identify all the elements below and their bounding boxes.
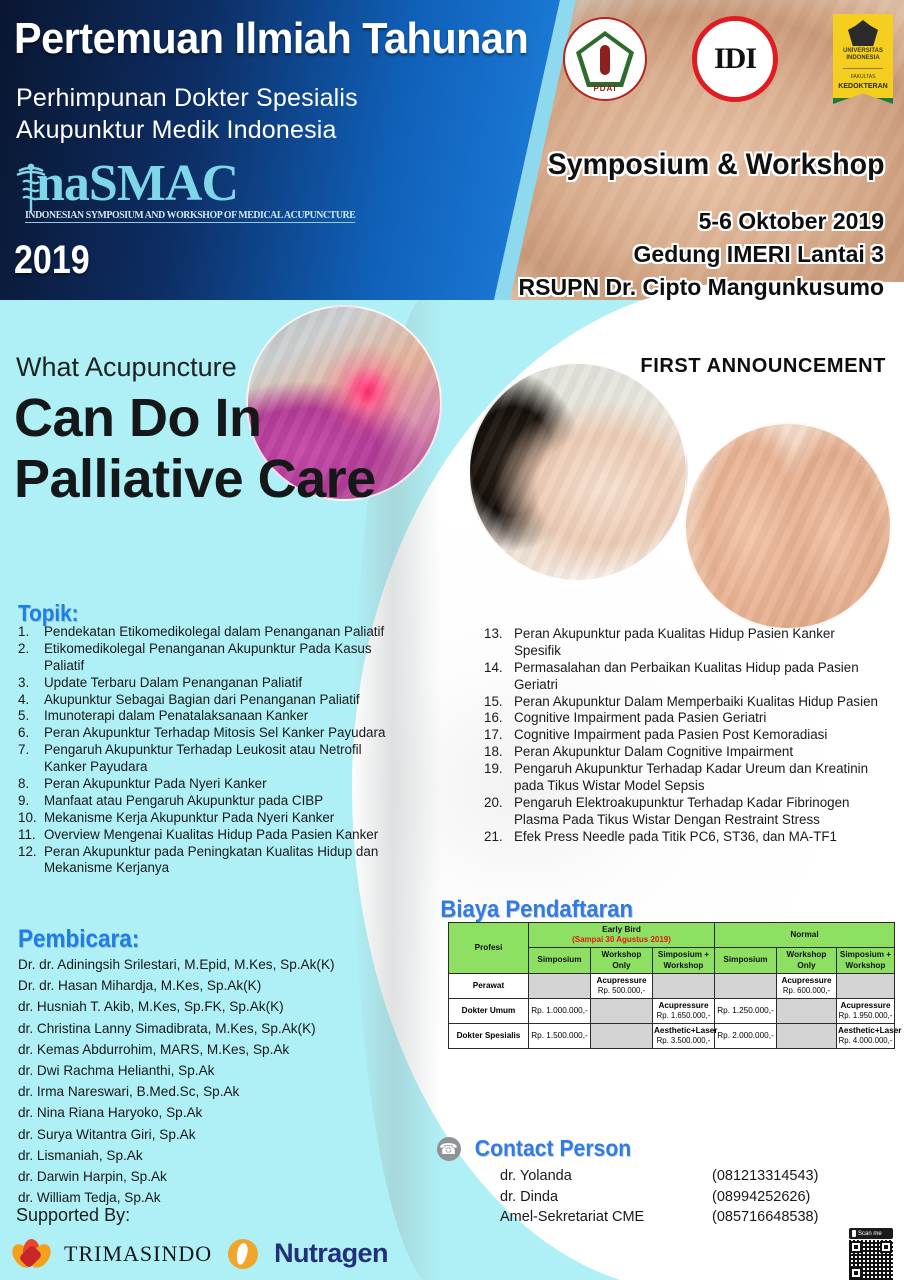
fee-cell-package: AcupressureRp. 1.950.000,- xyxy=(837,998,895,1023)
topic-number: 16. xyxy=(484,710,510,727)
topic-item: 9.Manfaat atau Pengaruh Akupunktur pada … xyxy=(18,793,388,810)
hero-title-line-2: Palliative Care xyxy=(14,449,376,510)
topic-text: Efek Press Needle pada Titik PC6, ST36, … xyxy=(514,829,837,844)
speaker-item: dr. Irma Nareswari, B.Med.Sc, Sp.Ak xyxy=(18,1081,418,1102)
organization-line-2: Akupunktur Medik Indonesia xyxy=(16,114,358,146)
speakers-heading: Pembicara: xyxy=(18,925,139,954)
pdai-logo-label: PDAI xyxy=(565,84,645,93)
fee-table-body: Perawat AcupressureRp. 500.000,- Acupres… xyxy=(449,973,895,1048)
topic-number: 1. xyxy=(18,624,40,641)
topic-item: 11.Overview Mengenai Kualitas Hidup Pada… xyxy=(18,827,388,844)
topic-number: 6. xyxy=(18,725,40,742)
fee-package-label: Acupressure xyxy=(778,976,835,986)
speaker-item: dr. Kemas Abdurrohim, MARS, M.Kes, Sp.Ak xyxy=(18,1039,418,1060)
topic-item: 5.Imunoterapi dalam Penatalaksanaan Kank… xyxy=(18,708,388,725)
topic-text: Overview Mengenai Kualitas Hidup Pada Pa… xyxy=(44,827,378,842)
qr-code-icon[interactable] xyxy=(849,1240,893,1280)
topic-text: Peran Akupunktur Dalam Cognitive Impairm… xyxy=(514,744,793,759)
speaker-item: dr. Darwin Harpin, Sp.Ak xyxy=(18,1166,418,1187)
topic-item: 7.Pengaruh Akupunktur Terhadap Leukosit … xyxy=(18,742,388,776)
fee-cell-price: Rp. 2.000.000,- xyxy=(715,1023,777,1048)
event-date: 5-6 Oktober 2019 xyxy=(699,208,884,235)
event-venue-line-1: Gedung IMERI Lantai 3 xyxy=(634,241,884,268)
pdai-serpent-icon xyxy=(600,45,610,75)
topic-item: 13.Peran Akupunktur pada Kualitas Hidup … xyxy=(484,626,884,660)
speaker-item: dr. Husniah T. Akib, M.Kes, Sp.FK, Sp.Ak… xyxy=(18,996,418,1017)
fee-col-profesi: Profesi xyxy=(449,923,529,974)
photo-acupressure-hand xyxy=(684,422,892,630)
qr-scan-label-chip: Scan me xyxy=(849,1228,893,1239)
pdai-pentagon-shape xyxy=(576,31,634,87)
topic-number: 18. xyxy=(484,744,510,761)
fee-package-amount: Rp. 4.000.000,- xyxy=(838,1036,893,1046)
topic-text: Update Terbaru Dalam Penanganan Paliatif xyxy=(44,675,302,690)
contact-list: dr. Yolanda(081213314543)dr. Dinda(08994… xyxy=(500,1166,818,1228)
fee-group-early-bird-label: Early Bird xyxy=(602,925,641,934)
topic-item: 19.Pengaruh Akupunktur Terhadap Kadar Ur… xyxy=(484,761,884,795)
contact-name: dr. Dinda xyxy=(500,1187,712,1208)
fee-cell-price: Rp. 1.000.000,- xyxy=(529,998,591,1023)
topic-item: 1.Pendekatan Etikomedikolegal dalam Pena… xyxy=(18,624,388,641)
phone-icon xyxy=(437,1137,461,1161)
speaker-item: dr. Nina Riana Haryoko, Sp.Ak xyxy=(18,1102,418,1123)
trimasindo-logo-label: TRIMASINDO xyxy=(64,1241,212,1267)
fee-cell-empty xyxy=(529,973,591,998)
fee-package-amount: Rp. 600.000,- xyxy=(778,986,835,996)
contact-row: dr. Yolanda(081213314543) xyxy=(500,1166,818,1187)
fee-cell-empty xyxy=(591,1023,653,1048)
fee-group-early-bird-note: (Sampai 30 Agustus 2019) xyxy=(530,935,713,945)
fee-cell-empty xyxy=(591,998,653,1023)
contact-name: dr. Yolanda xyxy=(500,1166,712,1187)
topic-item: 2.Etikomedikolegal Penanganan Akupunktur… xyxy=(18,641,388,675)
hero-title-line-1: Can Do In xyxy=(14,388,376,449)
fee-group-early-bird: Early Bird (Sampai 30 Agustus 2019) xyxy=(529,923,715,948)
fee-package-amount: Rp. 3.500.000,- xyxy=(654,1036,713,1046)
idi-logo-icon: IDI xyxy=(692,16,778,102)
fee-group-normal: Normal xyxy=(715,923,895,948)
fee-sub-early-simposium: Simposium xyxy=(529,948,591,974)
topic-number: 20. xyxy=(484,795,510,812)
speakers-list: Dr. dr. Adiningsih Srilestari, M.Epid, M… xyxy=(18,954,418,1208)
contact-heading-wrap: Contact Person xyxy=(0,1135,904,1166)
first-announcement-badge: FIRST ANNOUNCEMENT xyxy=(640,355,886,378)
fee-package-label: Acupressure xyxy=(654,1001,713,1011)
fee-cell-package: Aesthetic+LaserRp. 4.000.000,- xyxy=(837,1023,895,1048)
fee-package-amount: Rp. 500.000,- xyxy=(592,986,651,996)
topic-number: 8. xyxy=(18,776,40,793)
topic-item: 15.Peran Akupunktur Dalam Memperbaiki Ku… xyxy=(484,694,884,711)
event-year: 2019 xyxy=(14,238,90,283)
topic-text: Peran Akupunktur pada Peningkatan Kualit… xyxy=(44,844,378,876)
fee-package-amount: Rp. 1.650.000,- xyxy=(654,1011,713,1021)
contact-phone[interactable]: (081213314543) xyxy=(712,1166,818,1187)
fee-sub-normal-simposium: Simposium xyxy=(715,948,777,974)
photo-facial-acupuncture xyxy=(468,362,688,582)
topic-number: 2. xyxy=(18,641,40,658)
phone-glyph-icon xyxy=(852,1230,856,1237)
contact-name: Amel-Sekretariat CME xyxy=(500,1207,712,1228)
fee-sub-early-combo: Simposium + Workshop xyxy=(653,948,715,974)
fee-cell-package: AcupressureRp. 1.650.000,- xyxy=(653,998,715,1023)
topic-text: Manfaat atau Pengaruh Akupunktur pada CI… xyxy=(44,793,323,808)
topic-number: 13. xyxy=(484,626,510,643)
fee-row-profesi: Perawat xyxy=(449,973,529,998)
contact-heading-inner: Contact Person xyxy=(437,1135,638,1162)
trimasindo-lotus-icon xyxy=(14,1239,48,1269)
topic-number: 15. xyxy=(484,694,510,711)
sponsor-logos: TRIMASINDO Nutragen xyxy=(14,1238,388,1269)
fee-cell-empty xyxy=(777,998,837,1023)
fee-sub-normal-workshop: Workshop Only xyxy=(777,948,837,974)
fee-sub-normal-combo: Simposium + Workshop xyxy=(837,948,895,974)
contact-heading: Contact Person xyxy=(474,1135,630,1162)
topic-number: 19. xyxy=(484,761,510,778)
topic-text: Pendekatan Etikomedikolegal dalam Penang… xyxy=(44,624,384,639)
fee-cell-package: AcupressureRp. 600.000,- xyxy=(777,973,837,998)
fee-package-label: Acupressure xyxy=(592,976,651,986)
fee-cell-price: Rp. 1.250.000,- xyxy=(715,998,777,1023)
topic-item: 4.Akupunktur Sebagai Bagian dari Penanga… xyxy=(18,692,388,709)
organization-line-1: Perhimpunan Dokter Spesialis xyxy=(16,82,358,114)
topic-text: Imunoterapi dalam Penatalaksanaan Kanker xyxy=(44,708,308,723)
topics-list-left: 1.Pendekatan Etikomedikolegal dalam Pena… xyxy=(18,624,388,877)
fee-cell-price: Rp. 1.500.000,- xyxy=(529,1023,591,1048)
contact-phone[interactable]: (085716648538) xyxy=(712,1207,818,1228)
fee-cell-package: AcupressureRp. 500.000,- xyxy=(591,973,653,998)
hero-title: Can Do In Palliative Care xyxy=(14,388,376,510)
topic-item: 20.Pengaruh Elektroakupunktur Terhadap K… xyxy=(484,795,884,829)
fees-heading-wrap: Biaya Pendaftaran xyxy=(0,896,904,924)
contact-phone[interactable]: (08994252626) xyxy=(712,1187,810,1208)
topic-number: 12. xyxy=(18,844,40,861)
topic-number: 17. xyxy=(484,727,510,744)
topic-text: Peran Akupunktur Terhadap Mitosis Sel Ka… xyxy=(44,725,385,740)
qr-code-block[interactable]: Scan me xyxy=(849,1228,896,1280)
topic-number: 10. xyxy=(18,810,40,827)
nutragen-logo-label: Nutragen xyxy=(274,1238,388,1269)
poster-root: Pertemuan Ilmiah Tahunan Perhimpunan Dok… xyxy=(0,0,904,1280)
topic-item: 21.Efek Press Needle pada Titik PC6, ST3… xyxy=(484,829,884,846)
contact-row: dr. Dinda(08994252626) xyxy=(500,1187,818,1208)
topic-text: Peran Akupunktur pada Kualitas Hidup Pas… xyxy=(514,626,835,658)
topic-text: Mekanisme Kerja Akupunktur Pada Nyeri Ka… xyxy=(44,810,334,825)
organization-name: Perhimpunan Dokter Spesialis Akupunktur … xyxy=(16,82,358,146)
event-venue-line-2: RSUPN Dr. Cipto Mangunkusumo xyxy=(519,274,884,301)
fee-table-row: Perawat AcupressureRp. 500.000,- Acupres… xyxy=(449,973,895,998)
fee-table-row: Dokter UmumRp. 1.000.000,- AcupressureRp… xyxy=(449,998,895,1023)
supported-by-label: Supported By: xyxy=(16,1205,130,1226)
topic-text: Cognitive Impairment pada Pasien Post Ke… xyxy=(514,727,827,742)
contact-row: Amel-Sekretariat CME(085716648538) xyxy=(500,1207,818,1228)
speaker-item: Dr. dr. Hasan Mihardja, M.Kes, Sp.Ak(K) xyxy=(18,975,418,996)
topics-list-right: 13.Peran Akupunktur pada Kualitas Hidup … xyxy=(484,626,884,846)
fee-cell-empty xyxy=(777,1023,837,1048)
fee-package-label: Aesthetic+Laser xyxy=(838,1026,893,1036)
event-type: Symposium & Workshop xyxy=(547,148,884,182)
topic-text: Pengaruh Akupunktur Terhadap Leukosit at… xyxy=(44,742,362,774)
topic-number: 11. xyxy=(18,827,40,844)
fee-package-amount: Rp. 1.950.000,- xyxy=(838,1011,893,1021)
topic-text: Etikomedikolegal Penanganan Akupunktur P… xyxy=(44,641,372,673)
ui-logo-divider xyxy=(843,68,883,69)
topic-text: Peran Akupunktur Pada Nyeri Kanker xyxy=(44,776,267,791)
topic-number: 21. xyxy=(484,829,510,846)
ui-logo-line-1: UNIVERSITAS INDONESIA xyxy=(833,48,893,61)
topic-number: 5. xyxy=(18,708,40,725)
topic-item: 10.Mekanisme Kerja Akupunktur Pada Nyeri… xyxy=(18,810,388,827)
nasmac-tagline: INDONESIAN SYMPOSIUM AND WORKSHOP OF MED… xyxy=(25,210,355,223)
fee-row-profesi: Dokter Umum xyxy=(449,998,529,1023)
fee-row-profesi: Dokter Spesialis xyxy=(449,1023,529,1048)
topic-text: Peran Akupunktur Dalam Memperbaiki Kuali… xyxy=(514,694,878,709)
fee-package-label: Acupressure xyxy=(838,1001,893,1011)
ui-logo-line-3: KEDOKTERAN xyxy=(833,83,893,90)
topic-number: 3. xyxy=(18,675,40,692)
nutragen-wheat-icon xyxy=(228,1239,258,1269)
fee-sub-early-workshop: Workshop Only xyxy=(591,948,653,974)
fee-package-label: Aesthetic+Laser xyxy=(654,1026,713,1036)
topic-text: Akupunktur Sebagai Bagian dari Penangana… xyxy=(44,692,360,707)
topic-text: Permasalahan dan Perbaikan Kualitas Hidu… xyxy=(514,660,859,692)
topic-item: 16.Cognitive Impairment pada Pasien Geri… xyxy=(484,710,884,727)
topics-heading: Topik: xyxy=(18,600,79,627)
page-title: Pertemuan Ilmiah Tahunan xyxy=(14,14,528,64)
makara-icon xyxy=(848,20,878,46)
topic-text: Pengaruh Elektroakupunktur Terhadap Kada… xyxy=(514,795,849,827)
topic-number: 14. xyxy=(484,660,510,677)
speaker-item: Dr. dr. Adiningsih Srilestari, M.Epid, M… xyxy=(18,954,418,975)
ui-logo-line-2: FAKULTAS xyxy=(833,74,893,80)
topic-item: 18.Peran Akupunktur Dalam Cognitive Impa… xyxy=(484,744,884,761)
topic-item: 6.Peran Akupunktur Terhadap Mitosis Sel … xyxy=(18,725,388,742)
fee-table-header-row-1: Profesi Early Bird (Sampai 30 Agustus 20… xyxy=(449,923,895,948)
pdai-logo-icon: PDAI xyxy=(563,17,647,101)
fees-heading: Biaya Pendaftaran xyxy=(441,896,634,924)
topic-item: 14.Permasalahan dan Perbaikan Kualitas H… xyxy=(484,660,884,694)
fee-cell-empty xyxy=(837,973,895,998)
fee-table-row: Dokter SpesialisRp. 1.500.000,- Aestheti… xyxy=(449,1023,895,1048)
fee-cell-empty xyxy=(715,973,777,998)
topic-number: 7. xyxy=(18,742,40,759)
topic-text: Cognitive Impairment pada Pasien Geriatr… xyxy=(514,710,766,725)
speaker-item: dr. Dwi Rachma Helianthi, Sp.Ak xyxy=(18,1060,418,1081)
topic-number: 9. xyxy=(18,793,40,810)
topic-text: Pengaruh Akupunktur Terhadap Kadar Ureum… xyxy=(514,761,868,793)
fee-cell-package: Aesthetic+LaserRp. 3.500.000,- xyxy=(653,1023,715,1048)
topic-item: 12.Peran Akupunktur pada Peningkatan Kua… xyxy=(18,844,388,878)
registration-fee-table: Profesi Early Bird (Sampai 30 Agustus 20… xyxy=(448,922,895,1049)
topic-item: 8.Peran Akupunktur Pada Nyeri Kanker xyxy=(18,776,388,793)
speaker-item: dr. Christina Lanny Simadibrata, M.Kes, … xyxy=(18,1018,418,1039)
qr-scan-label: Scan me xyxy=(858,1231,882,1237)
topic-item: 3.Update Terbaru Dalam Penanganan Paliat… xyxy=(18,675,388,692)
topic-number: 4. xyxy=(18,692,40,709)
fee-cell-empty xyxy=(653,973,715,998)
ui-fk-logo-icon: UNIVERSITAS INDONESIA FAKULTAS KEDOKTERA… xyxy=(833,14,893,104)
hero-kicker: What Acupuncture xyxy=(16,352,237,383)
nasmac-wordmark: naSMAC xyxy=(36,158,238,210)
topic-item: 17.Cognitive Impairment pada Pasien Post… xyxy=(484,727,884,744)
